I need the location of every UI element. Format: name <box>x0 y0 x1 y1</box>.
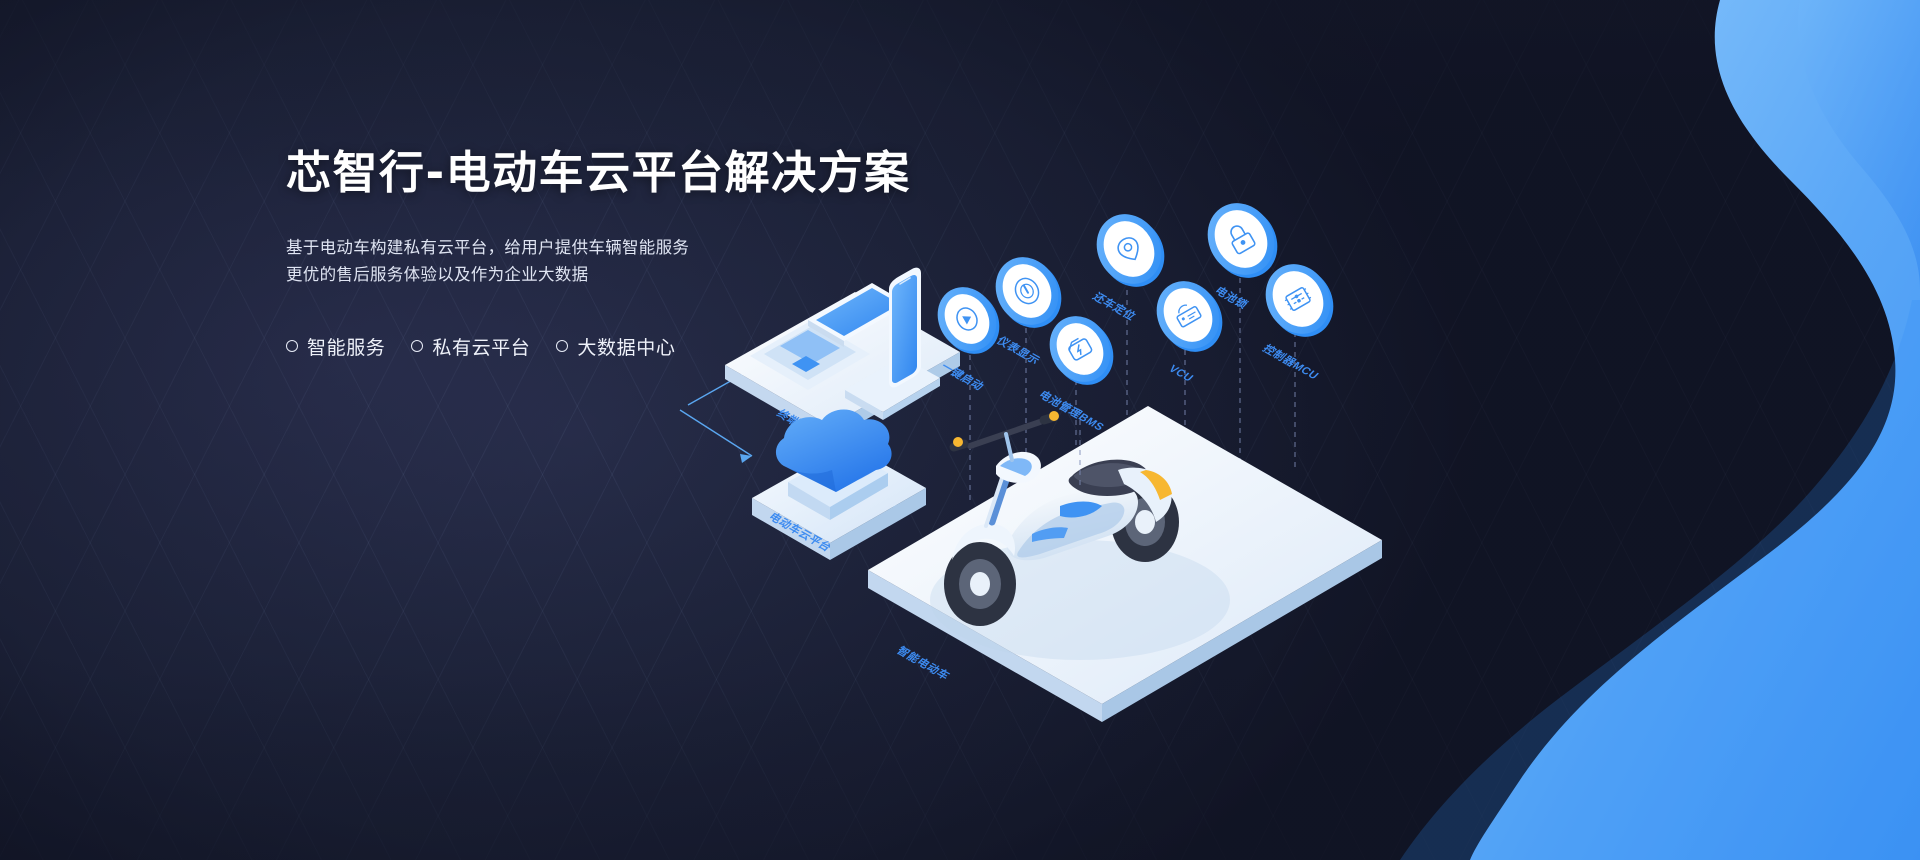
module-label-dashboard-display: 仪表显示 <box>993 333 1043 366</box>
feature-item-smart-service[interactable]: 智能服务 <box>286 333 385 360</box>
feature-item-private-cloud[interactable]: 私有云平台 <box>411 333 530 360</box>
circle-outline-icon <box>411 340 423 352</box>
circle-outline-icon <box>286 340 298 352</box>
module-mcu[interactable]: 控制器MCU <box>1253 252 1346 382</box>
feature-label: 智能服务 <box>307 333 385 360</box>
module-label-mcu: 控制器MCU <box>1260 342 1322 382</box>
feature-label: 私有云平台 <box>432 333 530 360</box>
isometric-illustration: 终端设备 电动车云平台 <box>640 170 1650 820</box>
module-label-vcu: VCU <box>1166 363 1196 384</box>
banner-stage: 芯智行-电动车云平台解决方案 基于电动车构建私有云平台，给用户提供车辆智能服务 … <box>0 0 1920 860</box>
platform-cloud: 电动车云平台 <box>752 410 926 561</box>
module-label-one-key-start: 一键启动 <box>938 360 987 393</box>
platform-label-vehicle: 智能电动车 <box>894 644 953 682</box>
circle-outline-icon <box>556 340 568 352</box>
module-label-return-location: 还车定位 <box>1089 289 1139 322</box>
module-label-battery-management: 电池管理BMS <box>1036 388 1108 433</box>
platform-vehicle: 智能电动车 <box>868 406 1382 722</box>
